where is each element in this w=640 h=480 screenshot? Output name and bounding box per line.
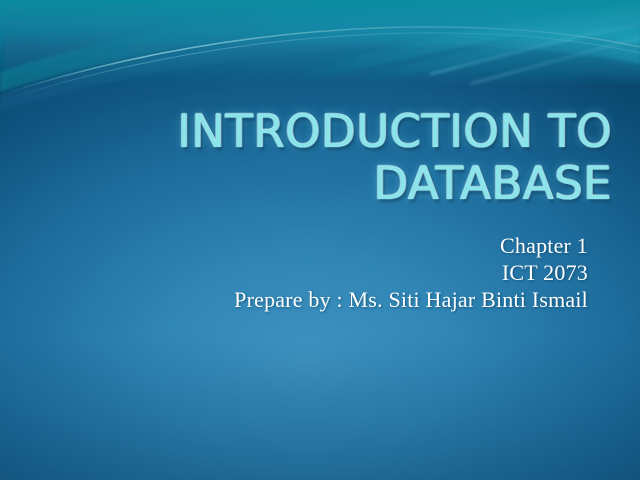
title-slide: INTRODUCTION TO DATABASE Chapter 1 ICT 2… bbox=[0, 0, 640, 480]
title-line-1: INTRODUCTION TO bbox=[40, 106, 612, 158]
subtitle-chapter: Chapter 1 bbox=[40, 232, 588, 259]
subtitle: Chapter 1 ICT 2073 Prepare by : Ms. Siti… bbox=[40, 232, 588, 313]
title-line-2: DATABASE bbox=[40, 158, 612, 210]
subtitle-author: Prepare by : Ms. Siti Hajar Binti Ismail bbox=[40, 286, 588, 313]
page-title: INTRODUCTION TO DATABASE bbox=[40, 106, 612, 210]
subtitle-course-code: ICT 2073 bbox=[40, 259, 588, 286]
